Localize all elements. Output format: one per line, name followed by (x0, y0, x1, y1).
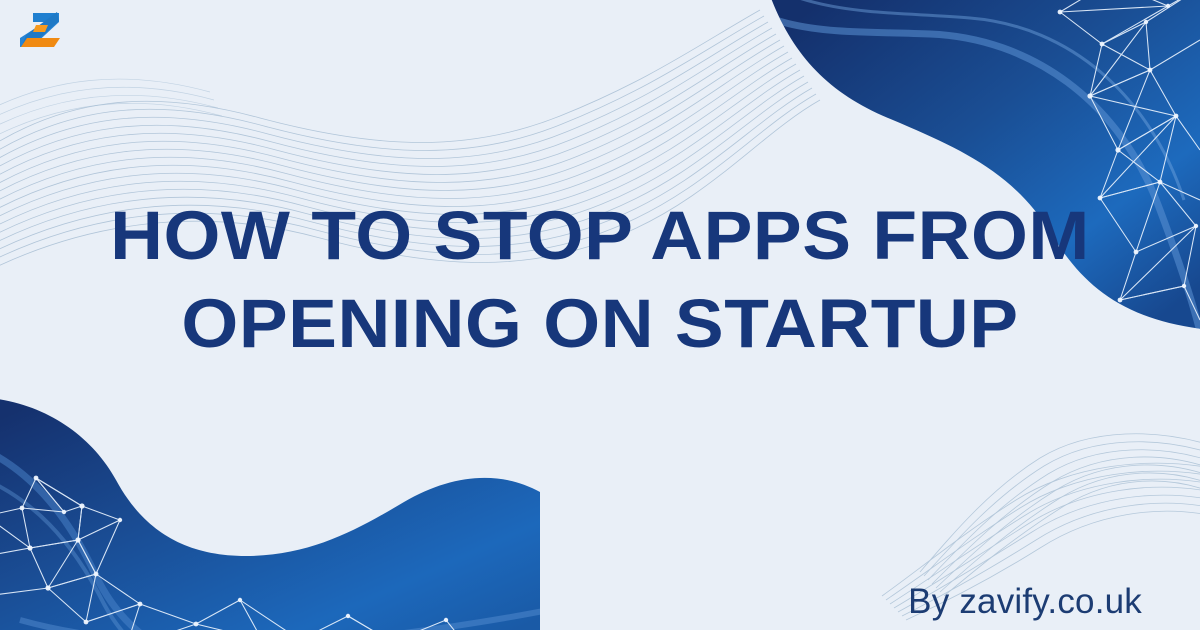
title-line-1: HOW TO STOP APPS FROM (0, 192, 1200, 280)
banner-card: HOW TO STOP APPS FROM OPENING ON STARTUP… (0, 0, 1200, 630)
title-line-2: OPENING ON STARTUP (0, 280, 1200, 368)
zavify-z-logo[interactable] (14, 7, 66, 53)
byline-attribution: By zavify.co.uk (908, 580, 1142, 624)
page-title: HOW TO STOP APPS FROM OPENING ON STARTUP (0, 192, 1200, 368)
